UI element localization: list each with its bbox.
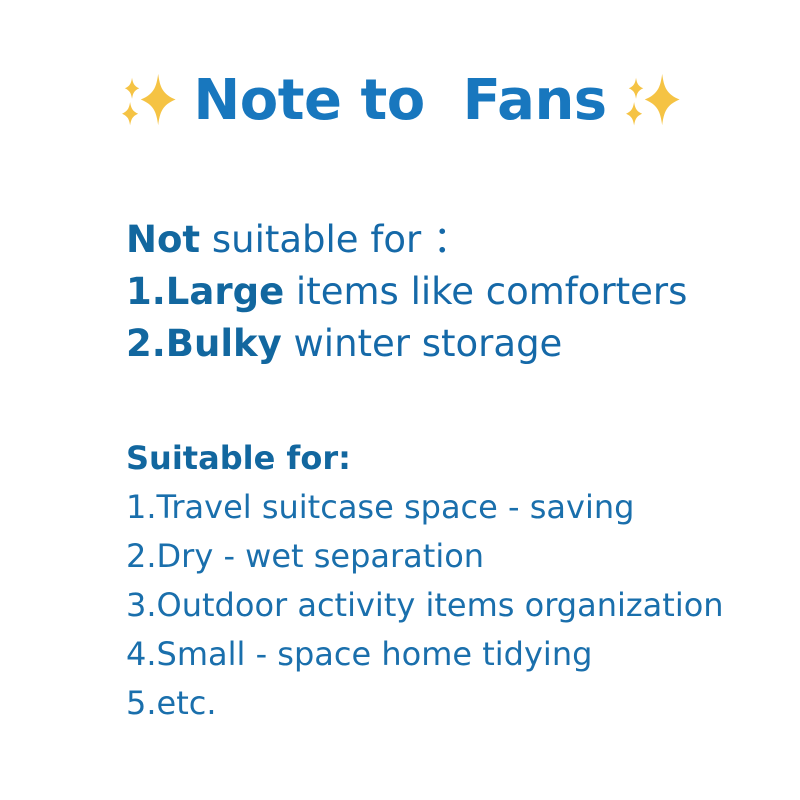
sparkles-icon-right [621, 70, 683, 132]
suitable-heading: Suitable for: [126, 434, 766, 483]
page-title: Note to Fans [193, 73, 606, 129]
sparkles-icon-left [117, 70, 179, 132]
not-suitable-block: Not suitable for ： 1.Large items like co… [126, 214, 766, 370]
page-title-row: Note to Fans [0, 58, 800, 144]
not-suitable-heading-bold: Not [126, 218, 200, 261]
not-suitable-item-rest: winter storage [282, 322, 563, 365]
suitable-item: 4.Small - space home tidying [126, 630, 766, 679]
not-suitable-item: 1.Large items like comforters [126, 266, 766, 318]
not-suitable-item-bold: 1.Large [126, 270, 284, 313]
not-suitable-item: 2.Bulky winter storage [126, 318, 766, 370]
suitable-item: 3.Outdoor activity items organization [126, 581, 766, 630]
not-suitable-item-rest: items like comforters [284, 270, 687, 313]
suitable-block: Suitable for: 1.Travel suitcase space - … [126, 434, 766, 728]
not-suitable-heading-rest: suitable for ： [200, 218, 470, 261]
not-suitable-heading: Not suitable for ： [126, 214, 766, 266]
suitable-item: 1.Travel suitcase space - saving [126, 483, 766, 532]
note-to-fans-poster: Note to Fans Not suitable for ： 1.Large … [0, 0, 800, 800]
suitable-item: 2.Dry - wet separation [126, 532, 766, 581]
suitable-item: 5.etc. [126, 679, 766, 728]
not-suitable-item-bold: 2.Bulky [126, 322, 282, 365]
